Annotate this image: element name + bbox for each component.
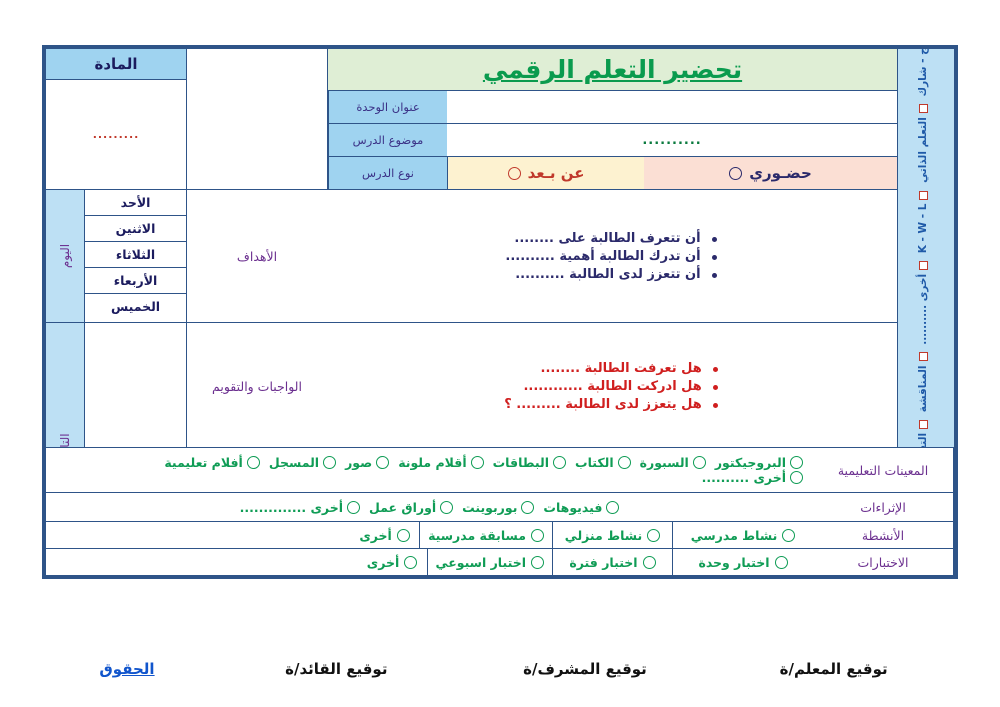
document-page: التعلم التعاوني خرائط المفاهيم التعلم با… [0,0,1000,707]
radio-icon[interactable] [376,456,389,469]
aid-option-label: الكتاب [575,455,614,470]
aid-option-label: أفلام تعليمية [164,455,243,470]
lesson-topic-placeholder-dots: .......... [642,133,701,148]
evaluation-label: الواجبات والتقويم [186,323,327,450]
day-label-text: اليوم [58,244,72,268]
test-option-period[interactable]: اختبار فترة [553,549,673,575]
activities-label: الأنشطة [813,522,954,548]
subject-column: المادة ......... [46,49,186,189]
aid-option-label: صور [345,455,372,470]
objectives-row: أن تتعرف الطالبة على ........ أن تدرك ال… [186,189,897,322]
lesson-topic-value[interactable]: .......... [447,124,897,156]
objectives-list: أن تتعرف الطالبة على ........ أن تدرك ال… [505,228,718,285]
radio-icon[interactable] [404,556,417,569]
unit-title-row: عنوان الوحدة [328,91,897,124]
subject-placeholder-dots: ......... [93,128,140,141]
strategy-item: K - W - L [917,204,929,254]
header-blank-cell[interactable] [186,49,328,189]
day-sunday[interactable]: الأحد [85,190,186,216]
aid-option-board[interactable]: السبورة [640,455,706,470]
tests-empty-cell[interactable] [46,549,358,575]
lesson-type-remote-option[interactable]: عن بـعد [447,157,644,189]
evaluation-item: هل يتعزز لدى الطالبة ......... ؟ [504,397,720,412]
radio-icon[interactable] [347,501,360,514]
teaching-aids-options: البروجيكتور السبورة الكتاب البطاقات أقلا… [56,455,803,485]
activity-option-label: نشاط مدرسي [691,528,778,543]
evaluation-row: هل تعرفت الطالبة ........ هل ادركت الطال… [186,322,897,450]
aid-option-projector[interactable]: البروجيكتور [715,455,803,470]
radio-icon[interactable] [790,471,803,484]
teacher-signature: توقيع المعلم/ة [709,660,958,678]
aid-option-label: أقلام ملونة [398,455,466,470]
radio-icon[interactable] [397,529,410,542]
day-wednesday[interactable]: الأربعاء [85,268,186,294]
radio-icon[interactable] [606,501,619,514]
checkbox-icon[interactable] [919,104,928,113]
enrichments-body: فيديوهات بوربوينت أوراق عمل أخرى .......… [46,493,813,521]
day-tuesday[interactable]: الثلاثاء [85,242,186,268]
radio-icon[interactable] [775,556,788,569]
strategy-item: فكر - زاوج - شارك [917,49,929,97]
enrichment-option-label: أخرى .............. [240,500,343,515]
radio-icon[interactable] [247,456,260,469]
radio-icon[interactable] [782,529,795,542]
signature-footer: توقيع المعلم/ة توقيع المشرف/ة توقيع القا… [42,655,958,683]
test-option-label: اختبار اسبوعي [436,555,526,570]
radio-icon[interactable] [647,529,660,542]
radio-icon[interactable] [618,456,631,469]
teaching-aids-row: المعينات التعليمية البروجيكتور السبورة ا… [46,447,954,492]
lesson-type-remote-label: عن بـعد [528,164,585,182]
lesson-type-present-label: حضـوري [749,164,812,182]
day-list: الأحد الاثنين الثلاثاء الأربعاء الخميس [85,190,186,322]
lesson-topic-label: موضوع الدرس [328,124,447,156]
activity-option-school[interactable]: نشاط مدرسي [673,522,813,548]
checkbox-icon[interactable] [919,261,928,270]
header-block: تحضير التعلم الرقمي عنوان الوحدة .......… [46,49,897,189]
tests-row: الاختبارات اختبار وحدة اختبار فترة اختبا… [46,548,954,575]
evaluation-item: هل تعرفت الطالبة ........ [504,361,720,376]
bottom-section: المعينات التعليمية البروجيكتور السبورة ا… [46,447,954,575]
page-title: تحضير التعلم الرقمي [328,49,897,91]
lesson-topic-row: .......... موضوع الدرس [328,124,897,157]
enrichment-option-label: أوراق عمل [369,500,436,515]
aid-option-colored-pens[interactable]: أقلام ملونة [398,455,483,470]
test-option-label: اختبار فترة [569,555,637,570]
tests-label: الاختبارات [813,549,954,575]
test-option-label: أخرى [367,555,400,570]
test-option-label: اختبار وحدة [698,555,769,570]
tests-cells: اختبار وحدة اختبار فترة اختبار اسبوعي أخ… [46,549,813,575]
radio-icon[interactable] [440,501,453,514]
checkbox-icon[interactable] [919,420,928,429]
lesson-type-row: حضـوري عن بـعد نوع الدرس [328,157,897,189]
day-label: اليوم [46,190,85,322]
aid-option-book[interactable]: الكتاب [575,455,631,470]
radio-icon[interactable] [729,167,742,180]
day-thursday[interactable]: الخميس [85,294,186,319]
day-monday[interactable]: الاثنين [85,216,186,242]
radio-icon[interactable] [531,556,544,569]
aid-option-recorder[interactable]: المسجل [269,455,336,470]
enrichment-option-worksheets[interactable]: أوراق عمل [369,500,453,515]
lesson-plan-table: التعلم التعاوني خرائط المفاهيم التعلم با… [42,45,958,579]
leader-signature: توقيع القائد/ة [212,660,461,678]
subject-label: المادة [46,49,186,80]
teaching-aids-body: البروجيكتور السبورة الكتاب البطاقات أقلا… [46,448,813,492]
aid-option-films[interactable]: أفلام تعليمية [164,455,260,470]
checkbox-icon[interactable] [919,352,928,361]
aid-option-label: البروجيكتور [715,455,786,470]
test-option-other[interactable]: أخرى [358,549,428,575]
test-option-unit[interactable]: اختبار وحدة [673,549,813,575]
aid-option-other[interactable]: أخرى .......... [702,470,803,485]
aid-option-label: البطاقات [493,455,549,470]
lesson-type-present-option[interactable]: حضـوري [644,157,897,189]
aid-option-label: أخرى .......... [702,470,786,485]
rights-link[interactable]: الحقوق [42,660,212,678]
aid-option-label: المسجل [269,455,319,470]
enrichment-option-label: بوربوينت [462,500,517,515]
objective-item: أن تتعزز لدى الطالبة .......... [505,267,718,282]
radio-icon[interactable] [693,456,706,469]
test-option-weekly[interactable]: اختبار اسبوعي [428,549,553,575]
enrichments-options: فيديوهات بوربوينت أوراق عمل أخرى .......… [240,500,620,515]
activity-option-competition[interactable]: مسابقة مدرسية [420,522,553,548]
unit-title-value[interactable] [447,91,897,123]
activity-option-label: نشاط منزلي [565,528,642,543]
unit-title-label: عنوان الوحدة [328,91,447,123]
activity-option-other[interactable]: أخرى [350,522,420,548]
enrichment-option-videos[interactable]: فيديوهات [543,500,619,515]
checkbox-icon[interactable] [919,191,928,200]
radio-icon[interactable] [471,456,484,469]
radio-icon[interactable] [553,456,566,469]
radio-icon[interactable] [790,456,803,469]
enrichments-row: الإثراءات فيديوهات بوربوينت أوراق عمل أخ… [46,492,954,521]
aid-option-label: السبورة [640,455,689,470]
radio-icon[interactable] [521,501,534,514]
radio-icon[interactable] [643,556,656,569]
aid-option-cards[interactable]: البطاقات [493,455,566,470]
activity-option-label: مسابقة مدرسية [428,528,526,543]
enrichment-option-powerpoint[interactable]: بوربوينت [462,500,534,515]
evaluation-body[interactable]: هل تعرفت الطالبة ........ هل ادركت الطال… [327,323,897,450]
objectives-label: الأهداف [186,190,327,322]
page-title-text: تحضير التعلم الرقمي [483,55,742,84]
enrichments-label: الإثراءات [813,493,954,521]
activity-option-label: أخرى [359,528,392,543]
supervisor-signature: توقيع المشرف/ة [461,660,710,678]
evaluation-item: هل ادركت الطالبة ............ [504,379,720,394]
enrichment-option-label: فيديوهات [543,500,602,515]
enrichment-option-other[interactable]: أخرى .............. [240,500,360,515]
subject-value[interactable]: ......... [46,80,186,189]
strategy-item: أخرى .......... [917,274,929,345]
strategy-item: التعلم الذاتي [917,117,929,183]
radio-icon[interactable] [323,456,336,469]
activities-row: الأنشطة نشاط مدرسي نشاط منزلي مسابقة مدر… [46,521,954,548]
radio-icon[interactable] [531,529,544,542]
evaluation-list: هل تعرفت الطالبة ........ هل ادركت الطال… [504,358,720,415]
teaching-aids-label: المعينات التعليمية [813,448,954,492]
objectives-body[interactable]: أن تتعرف الطالبة على ........ أن تدرك ال… [327,190,897,322]
aid-option-pictures[interactable]: صور [345,455,389,470]
activities-empty-cell[interactable] [46,522,350,548]
objective-item: أن تدرك الطالبة أهمية .......... [505,249,718,264]
objective-item: أن تتعرف الطالبة على ........ [505,231,718,246]
activities-cells: نشاط مدرسي نشاط منزلي مسابقة مدرسية أخرى [46,522,813,548]
strategy-item: المناقشة [917,365,929,412]
day-group: الأحد الاثنين الثلاثاء الأربعاء الخميس ا… [46,190,186,322]
lesson-type-label: نوع الدرس [328,157,447,189]
radio-icon[interactable] [508,167,521,180]
activity-option-home[interactable]: نشاط منزلي [553,522,673,548]
